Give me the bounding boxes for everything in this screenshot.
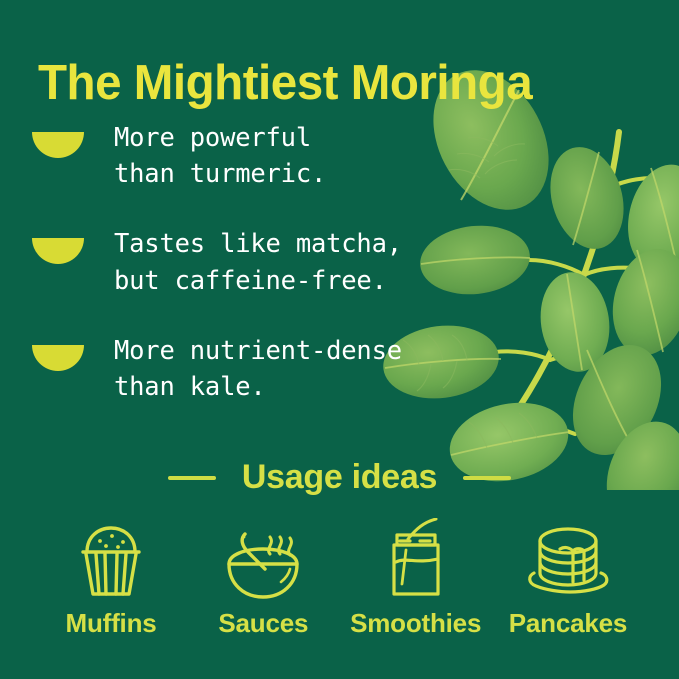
usage-ideas-heading: Usage ideas bbox=[0, 458, 679, 497]
usage-item-label: Muffins bbox=[65, 608, 156, 639]
usage-item-label: Sauces bbox=[218, 608, 308, 639]
moringa-infographic: The Mightiest Moringa More powerful than… bbox=[0, 0, 679, 679]
benefit-text: Tastes like matcha, but caffeine-free. bbox=[114, 226, 402, 298]
usage-item-sauces: Sauces bbox=[188, 518, 338, 639]
divider-dash-right-icon bbox=[463, 476, 511, 480]
usage-item-pancakes: Pancakes bbox=[493, 518, 643, 639]
half-circle-bullet-icon bbox=[32, 345, 84, 371]
usage-item-smoothies: Smoothies bbox=[341, 518, 491, 639]
half-circle-bullet-icon bbox=[32, 132, 84, 158]
bowl-spoon-icon bbox=[221, 518, 305, 600]
usage-ideas-title: Usage ideas bbox=[242, 458, 437, 497]
usage-item-label: Smoothies bbox=[350, 608, 481, 639]
divider-dash-left-icon bbox=[168, 476, 216, 480]
usage-item-label: Pancakes bbox=[509, 608, 627, 639]
benefit-item: More nutrient-dense than kale. bbox=[32, 333, 502, 405]
benefit-item: Tastes like matcha, but caffeine-free. bbox=[32, 226, 502, 298]
half-circle-bullet-icon bbox=[32, 238, 84, 264]
benefit-text: More powerful than turmeric. bbox=[114, 120, 326, 192]
pancake-stack-icon bbox=[524, 518, 612, 600]
benefits-list: More powerful than turmeric. Tastes like… bbox=[32, 120, 502, 439]
benefit-text: More nutrient-dense than kale. bbox=[114, 333, 402, 405]
usage-ideas-list: Muffins Sauces bbox=[36, 518, 643, 639]
benefit-item: More powerful than turmeric. bbox=[32, 120, 502, 192]
muffin-icon bbox=[72, 518, 150, 600]
page-title: The Mightiest Moringa bbox=[38, 57, 639, 111]
usage-item-muffins: Muffins bbox=[36, 518, 186, 639]
jar-straw-icon bbox=[380, 518, 452, 600]
